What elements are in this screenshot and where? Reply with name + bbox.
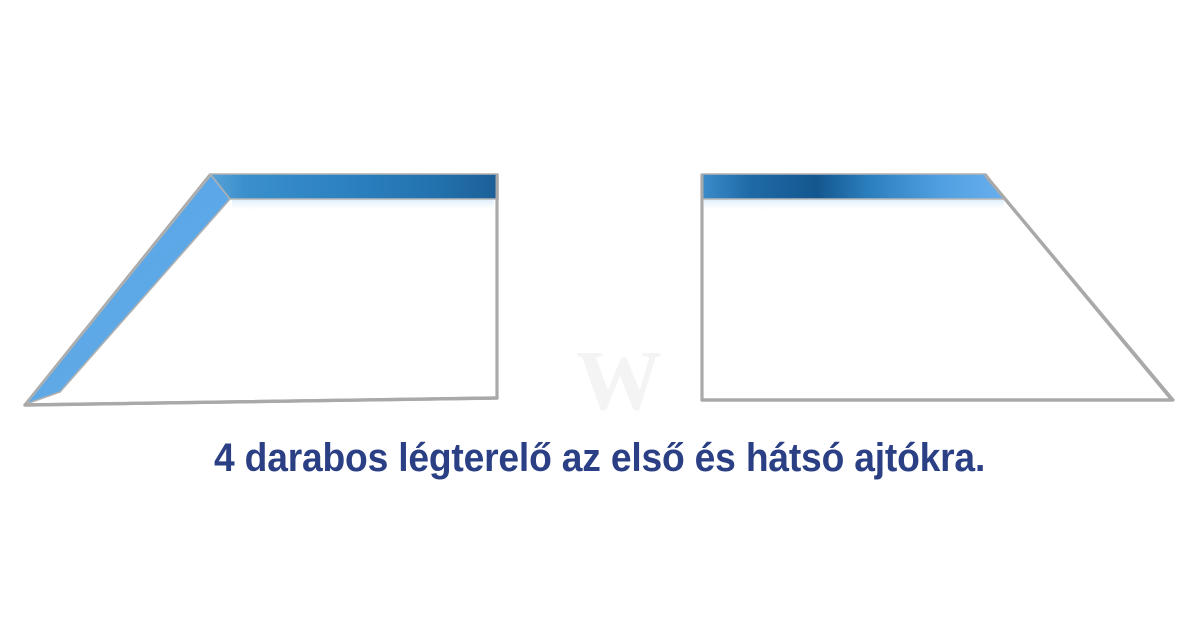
deflector-right-top-band	[702, 174, 1004, 199]
deflector-left-inner-glow	[232, 198, 494, 212]
deflector-left-top-band	[210, 174, 498, 199]
deflector-shape-right	[702, 174, 1173, 400]
deflector-diagram-svg	[0, 0, 1200, 430]
deflector-shape-left	[25, 174, 498, 405]
caption-text: 4 darabos légterelő az első és hátsó ajt…	[214, 436, 985, 481]
caption-bar: 4 darabos légterelő az első és hátsó ajt…	[0, 430, 1200, 486]
deflector-right-inner-glow	[704, 198, 1004, 212]
image-canvas: W 4 darabos légterelő az első és hátsó a…	[0, 0, 1200, 630]
product-figure	[0, 0, 1200, 430]
